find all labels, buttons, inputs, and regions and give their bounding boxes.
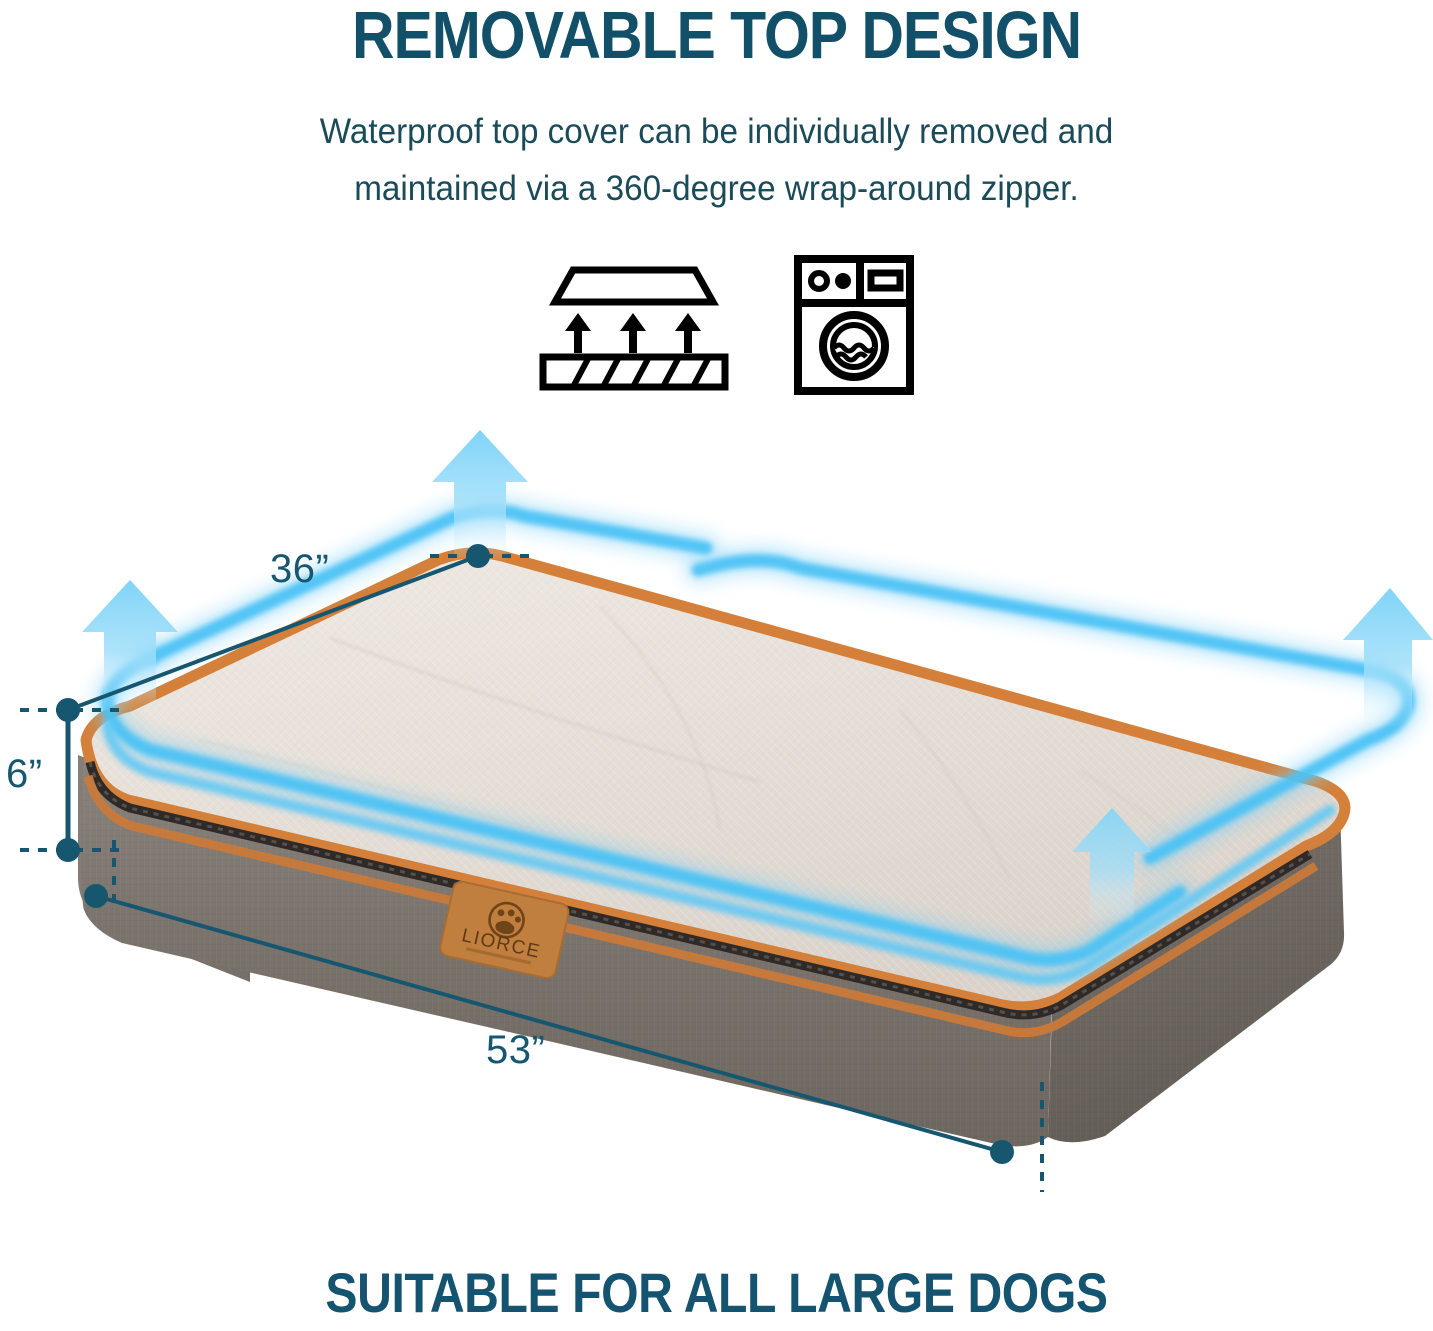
washing-machine-icon bbox=[793, 254, 915, 401]
page-subtitle-line-2: maintained via a 360-degree wrap-around … bbox=[36, 161, 1397, 218]
removable-layer-icon bbox=[533, 262, 733, 397]
page-title: REMOVABLE TOP DESIGN bbox=[86, 2, 1347, 70]
page-subtitle-line-1: Waterproof top cover can be individually… bbox=[36, 104, 1397, 161]
page-footer-title: SUITABLE FOR ALL LARGE DOGS bbox=[100, 1260, 1332, 1325]
infographic-page: REMOVABLE TOP DESIGN Waterproof top cove… bbox=[0, 0, 1433, 1331]
feature-icon-row bbox=[0, 252, 1433, 402]
dimension-dot-width-end bbox=[466, 544, 490, 568]
dimension-label-length: 53” bbox=[486, 1028, 545, 1073]
page-subtitle: Waterproof top cover can be individually… bbox=[36, 104, 1397, 217]
lift-arrow-top-left bbox=[432, 430, 528, 560]
dimension-dot-height-top bbox=[56, 698, 80, 722]
dimension-dot-length-start bbox=[84, 884, 108, 908]
dimension-dot-length-end bbox=[990, 1140, 1014, 1164]
product-illustration: LIORCE LIORCE bbox=[0, 410, 1433, 1200]
dimension-dot-height-bottom bbox=[56, 838, 80, 862]
dimension-label-height: 6” bbox=[6, 752, 43, 797]
dimension-label-width: 36” bbox=[270, 547, 329, 592]
